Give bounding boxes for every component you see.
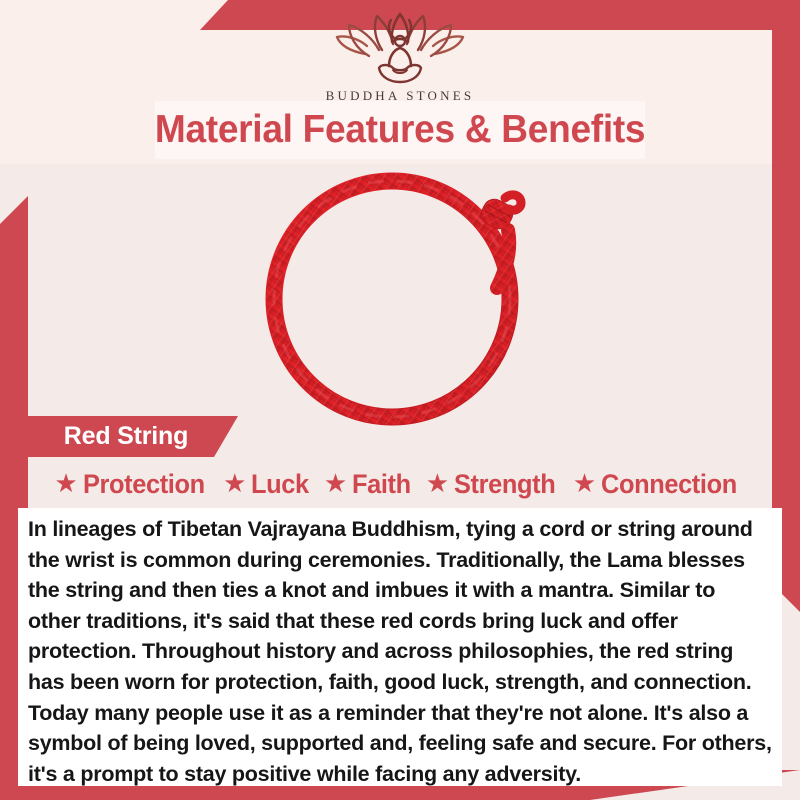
- benefit-item-luck: ★ Luck: [223, 469, 313, 500]
- benefit-item-connection: ★ Connection: [573, 469, 746, 500]
- page-title: Material Features & Benefits: [155, 108, 645, 152]
- star-icon: ★: [223, 470, 246, 496]
- lotus-meditation-icon: [335, 8, 465, 86]
- title-plate: Material Features & Benefits: [155, 101, 645, 159]
- benefit-label: Faith: [352, 469, 411, 500]
- benefit-item-strength: ★ Strength: [426, 469, 562, 500]
- product-label-text: Red String: [28, 422, 238, 451]
- description-text: In lineages of Tibetan Vajrayana Buddhis…: [28, 514, 772, 789]
- star-icon: ★: [324, 470, 347, 496]
- star-icon: ★: [426, 470, 449, 496]
- braided-bracelet-illustration: [0, 168, 800, 426]
- benefit-label: Protection: [83, 469, 205, 500]
- product-label-ribbon: Red String: [28, 416, 238, 457]
- star-icon: ★: [573, 470, 596, 496]
- benefit-label: Luck: [251, 469, 309, 500]
- star-icon: ★: [54, 470, 77, 496]
- benefit-label: Connection: [601, 469, 737, 500]
- benefit-item-faith: ★ Faith: [324, 469, 415, 500]
- benefits-row: ★ Protection ★ Luck ★ Faith ★ Strength ★…: [28, 463, 772, 505]
- benefit-label: Strength: [454, 469, 555, 500]
- benefit-item-protection: ★ Protection: [54, 469, 212, 500]
- description-panel: In lineages of Tibetan Vajrayana Buddhis…: [18, 508, 782, 786]
- product-image-red-string-bracelet: [0, 168, 800, 426]
- brand-logo: BUDDHA STONES: [0, 8, 800, 104]
- product-infographic-poster: BUDDHA STONES Material Features & Benefi…: [0, 0, 800, 800]
